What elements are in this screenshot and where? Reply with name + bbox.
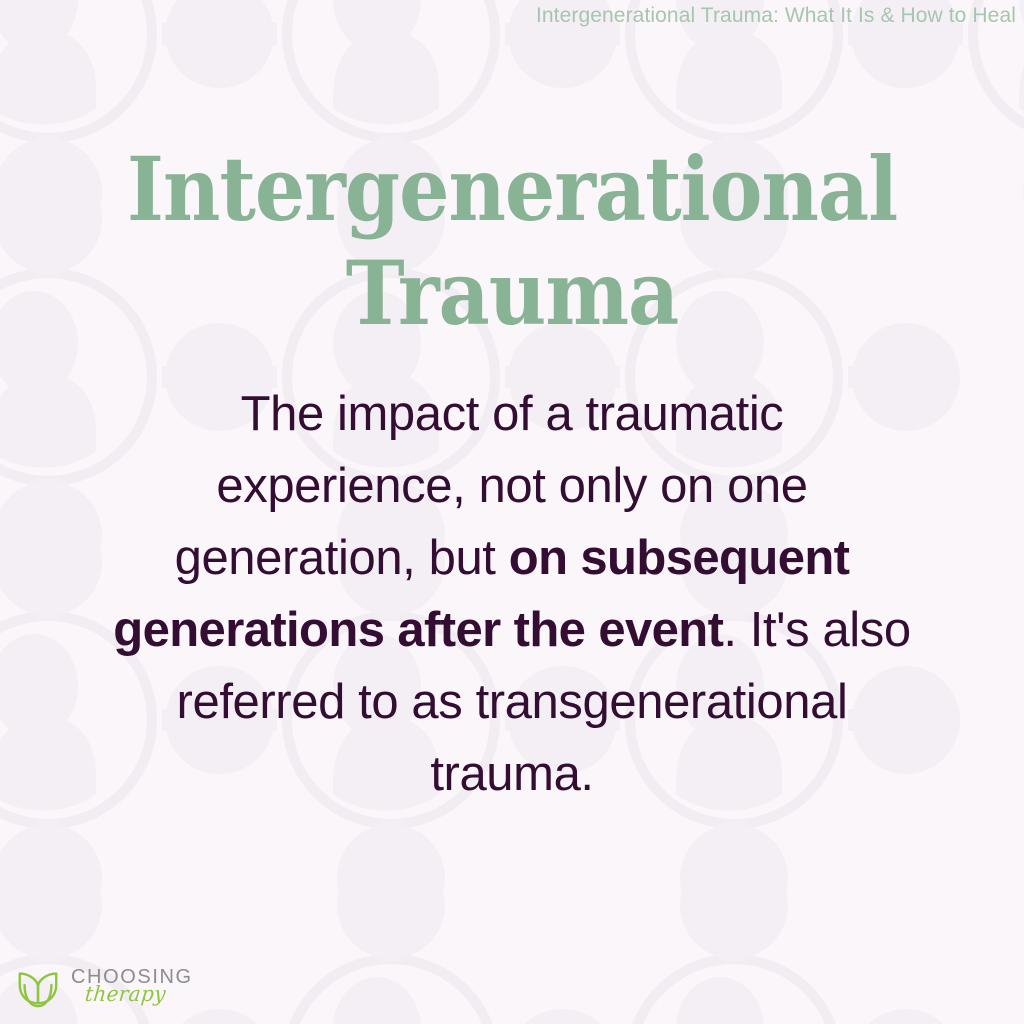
page-title: Intergenerational Trauma xyxy=(0,138,1024,346)
header-caption: Intergenerational Trauma: What It Is & H… xyxy=(300,4,1016,28)
lotus-leaf-icon xyxy=(14,962,62,1010)
page-title-line-2: Trauma xyxy=(51,242,973,346)
page-title-line-1: Intergenerational xyxy=(51,138,973,242)
poster-canvas: Intergenerational Trauma: What It Is & H… xyxy=(0,0,1024,1024)
logo-word-therapy: therapy xyxy=(84,984,189,1005)
brand-logo[interactable]: CHOOSING therapy xyxy=(14,962,193,1010)
definition-paragraph: The impact of a traumatic experience, no… xyxy=(110,378,914,810)
logo-wordmark: CHOOSING therapy xyxy=(71,967,193,1005)
